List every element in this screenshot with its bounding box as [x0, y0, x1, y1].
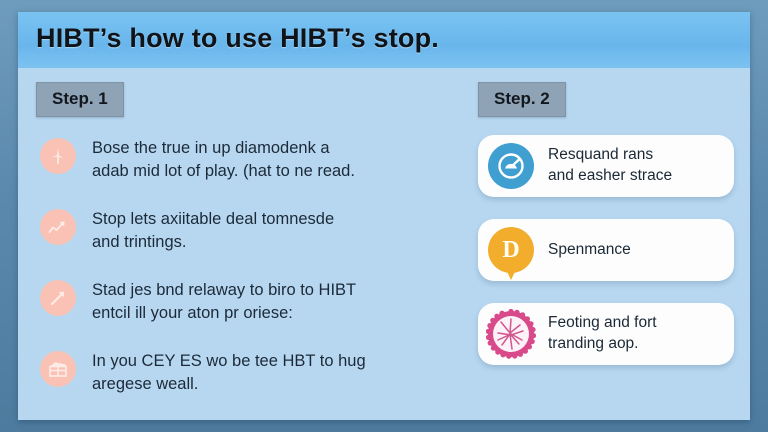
step-2-badge: Step. 2 — [478, 82, 566, 117]
step-1-badge: Step. 1 — [36, 82, 124, 117]
map-pin-icon: D — [486, 225, 536, 275]
seal-badge-icon — [486, 309, 536, 359]
list-item-line-1: Resquand rans — [548, 145, 672, 166]
list-item-text: In you CEY ES wo be tee HBT to hug arege… — [92, 350, 466, 397]
right-column: Step. 2 Resquand rans and — [478, 82, 734, 387]
list-item[interactable]: In you CEY ES wo be tee HBT to hug arege… — [36, 350, 466, 408]
list-item-text: Feoting and fort tranding aop. — [548, 313, 657, 355]
list-item-text: Stop lets axiitable deal tomnesde and tr… — [92, 208, 466, 255]
list-item[interactable]: Stad jes bnd relaway to biro to HIBT ent… — [36, 279, 466, 337]
list-item-line-2: and easher strace — [548, 166, 672, 187]
page-title: HIBT’s how to use HIBT’s stop. — [36, 23, 439, 54]
list-item-text: Bose the true in up diamodenk a adab mid… — [92, 137, 466, 184]
list-item-line-1: Feoting and fort — [548, 313, 657, 334]
list-item-line-1: Stop lets axiitable deal tomnesde — [92, 208, 466, 231]
left-column: Step. 1 — [36, 82, 466, 420]
trend-arrow-icon — [40, 209, 76, 245]
list-item-line-1: Bose the true in up diamodenk a — [92, 137, 466, 160]
list-item-text: Resquand rans and easher strace — [548, 145, 672, 187]
list-item[interactable]: Stop lets axiitable deal tomnesde and tr… — [36, 208, 466, 266]
list-item-text: Spenmance — [548, 240, 631, 261]
outer-frame: HIBT’s how to use HIBT’s stop. Step. 1 — [0, 0, 768, 432]
list-item-line-1: Stad jes bnd relaway to biro to HIBT — [92, 279, 466, 302]
list-item[interactable]: Feoting and fort tranding aop. — [478, 303, 734, 365]
list-item[interactable]: D Spenmance — [478, 219, 734, 281]
diagonal-arrow-icon — [40, 280, 76, 316]
list-item-line-2: aregese weall. — [92, 373, 466, 396]
list-item-text: Stad jes bnd relaway to biro to HIBT ent… — [92, 279, 466, 326]
list-item-line-2: and trintings. — [92, 231, 466, 254]
gauge-icon — [486, 141, 536, 191]
bullet-list: Bose the true in up diamodenk a adab mid… — [36, 137, 466, 408]
header-bar: HIBT’s how to use HIBT’s stop. — [18, 12, 750, 68]
slide-card: HIBT’s how to use HIBT’s stop. Step. 1 — [18, 12, 750, 420]
list-item-line-1: Spenmance — [548, 240, 631, 261]
grid-table-icon — [40, 351, 76, 387]
list-item-line-2: entcil ill your aton pr oriese: — [92, 302, 466, 325]
list-item-line-2: adab mid lot of play. (hat to ne read. — [92, 160, 466, 183]
list-item[interactable]: Resquand rans and easher strace — [478, 135, 734, 197]
list-item[interactable]: Bose the true in up diamodenk a adab mid… — [36, 137, 466, 195]
list-item-line-2: tranding aop. — [548, 334, 657, 355]
content-body: Step. 1 — [18, 68, 750, 420]
list-item-line-1: In you CEY ES wo be tee HBT to hug — [92, 350, 466, 373]
wind-turbine-icon — [40, 138, 76, 174]
